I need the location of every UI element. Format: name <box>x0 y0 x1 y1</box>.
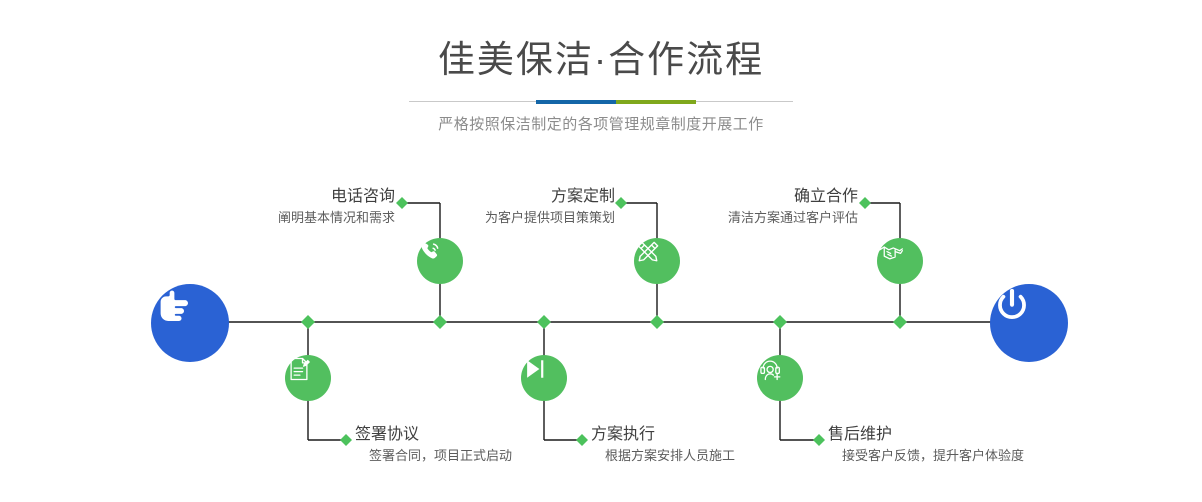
play-execute-icon <box>521 355 549 383</box>
pointing-hand-icon <box>151 284 195 328</box>
flow-start-node[interactable] <box>151 284 229 362</box>
step-label-bottom-2: 方案执行 根据方案安排人员施工 <box>591 424 841 466</box>
document-edit-icon <box>285 355 313 383</box>
step-desc: 为客户提供项目策策划 <box>380 208 615 228</box>
flow-end-node[interactable] <box>990 284 1068 362</box>
step-title: 售后维护 <box>828 424 1108 446</box>
step-title: 确立合作 <box>620 186 858 208</box>
step-label-top-2: 方案定制 为客户提供项目策策划 <box>380 186 615 228</box>
step-icon-play-execute[interactable] <box>521 355 567 401</box>
step-label-bottom-3: 售后维护 接受客户反馈，提升客户体验度 <box>828 424 1108 466</box>
step-label-bottom-1: 签署协议 签署合同，项目正式启动 <box>355 424 605 466</box>
step-title: 方案执行 <box>591 424 841 446</box>
phone-call-icon <box>417 238 445 266</box>
step-icon-pencil-ruler[interactable] <box>634 238 680 284</box>
step-label-top-1: 电话咨询 阐明基本情况和需求 <box>150 186 395 228</box>
step-title: 电话咨询 <box>150 186 395 208</box>
step-title: 方案定制 <box>380 186 615 208</box>
handshake-icon <box>877 238 906 267</box>
step-desc: 阐明基本情况和需求 <box>150 208 395 228</box>
step-icon-phone-call[interactable] <box>417 238 463 284</box>
infographic-page: 佳美保洁·合作流程 严格按照保洁制定的各项管理规章制度开展工作 <box>0 0 1202 502</box>
step-icon-document-edit[interactable] <box>285 355 331 401</box>
process-flow-diagram: 电话咨询 阐明基本情况和需求 方案定制 为客户提供项目策策划 确立合作 清洁方案… <box>0 0 1202 502</box>
customer-service-icon <box>757 355 785 383</box>
step-desc: 根据方案安排人员施工 <box>591 446 841 466</box>
pencil-ruler-icon <box>634 238 662 266</box>
step-icon-customer-service[interactable] <box>757 355 803 401</box>
step-desc: 签署合同，项目正式启动 <box>355 446 605 466</box>
step-desc: 清洁方案通过客户评估 <box>620 208 858 228</box>
step-title: 签署协议 <box>355 424 605 446</box>
step-desc: 接受客户反馈，提升客户体验度 <box>828 446 1108 466</box>
step-label-top-3: 确立合作 清洁方案通过客户评估 <box>620 186 858 228</box>
power-icon <box>990 284 1034 328</box>
step-icon-handshake[interactable] <box>877 238 923 284</box>
